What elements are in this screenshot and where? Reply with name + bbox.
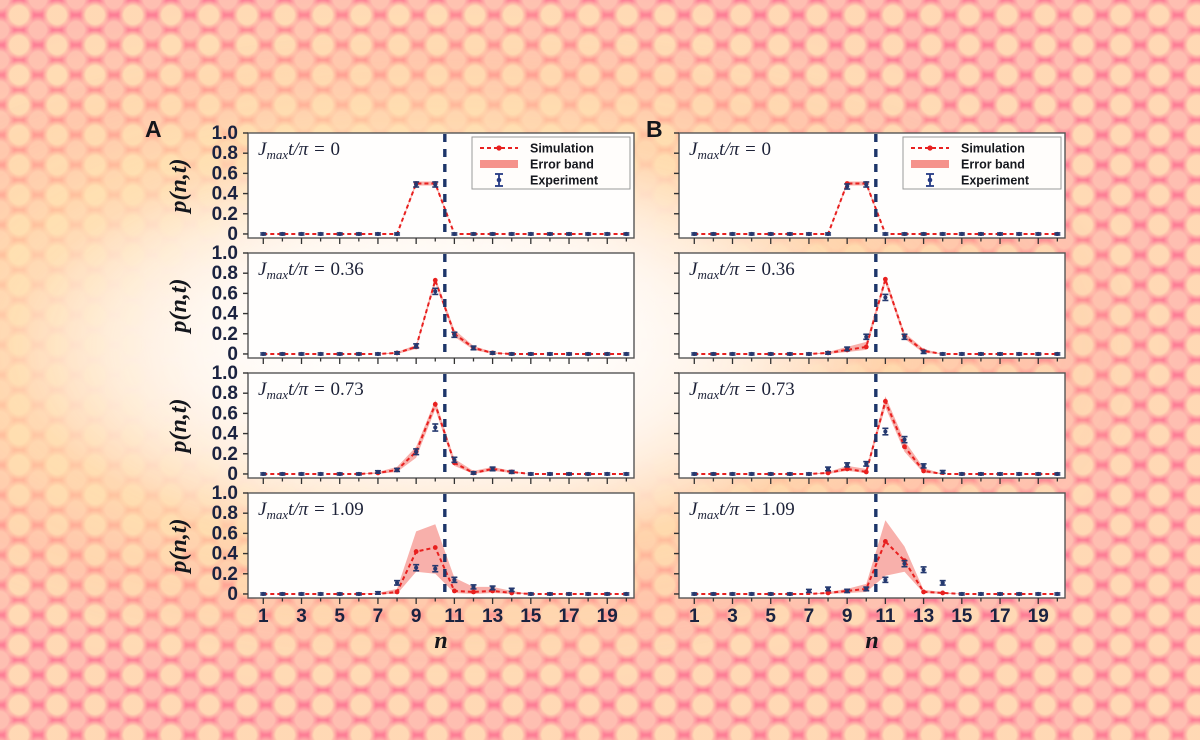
experiment-errorbar xyxy=(604,472,610,476)
y-tick-label: 0.4 xyxy=(212,304,239,325)
experiment-errorbar xyxy=(863,587,869,591)
y-tick-label: 0.2 xyxy=(212,324,238,345)
experiment-errorbar xyxy=(959,232,965,236)
y-axis-label: p(n,t) xyxy=(166,519,192,575)
subplot-b1: Jmaxt/π = 0SimulationError bandExperimen… xyxy=(674,133,1065,244)
y-tick-label: 0.8 xyxy=(212,383,238,404)
y-tick-label: 0.2 xyxy=(212,564,238,585)
experiment-errorbar xyxy=(997,592,1003,596)
x-tick-label: 15 xyxy=(951,606,973,627)
experiment-errorbar xyxy=(978,592,984,596)
simulation-point xyxy=(883,277,888,282)
experiment-errorbar xyxy=(623,232,629,236)
experiment-errorbar xyxy=(1016,352,1022,356)
experiment-errorbar xyxy=(691,352,697,356)
simulation-point xyxy=(864,470,869,475)
experiment-errorbar xyxy=(604,232,610,236)
subplot-a3: 1.00.80.60.40.20p(n,t)Jmaxt/π = 0.73 xyxy=(166,363,634,485)
x-tick-label: 19 xyxy=(597,606,618,627)
experiment-errorbar xyxy=(547,232,553,236)
experiment-errorbar xyxy=(997,232,1003,236)
legend-label: Experiment xyxy=(961,174,1030,188)
y-tick-label: 1.0 xyxy=(212,483,238,504)
experiment-errorbar xyxy=(901,232,907,236)
experiment-errorbar xyxy=(710,232,716,236)
legend-label: Experiment xyxy=(530,174,599,188)
x-tick-label: 7 xyxy=(804,606,815,627)
experiment-errorbar xyxy=(749,232,755,236)
experiment-errorbar xyxy=(863,334,869,339)
y-tick-label: 0 xyxy=(227,584,238,605)
experiment-errorbar xyxy=(863,182,869,187)
y-tick-label: 0.4 xyxy=(212,424,239,445)
experiment-errorbar xyxy=(806,232,812,236)
experiment-errorbar xyxy=(585,592,591,596)
experiment-errorbar xyxy=(844,463,850,467)
experiment-errorbar xyxy=(825,587,831,591)
subplot-a1: 1.00.80.60.40.20p(n,t)Jmaxt/π = 0Simulat… xyxy=(166,123,634,245)
experiment-errorbar xyxy=(691,592,697,596)
y-tick-label: 0.2 xyxy=(212,204,238,225)
x-tick-label: 13 xyxy=(482,606,503,627)
y-tick-label: 0.4 xyxy=(212,544,239,565)
x-tick-label: 15 xyxy=(520,606,542,627)
y-tick-label: 0.6 xyxy=(212,523,238,544)
experiment-errorbar xyxy=(1016,472,1022,476)
experiment-errorbar xyxy=(585,472,591,476)
subplot-b4: 135791113151719nJmaxt/π = 1.09 xyxy=(674,493,1065,654)
experiment-errorbar xyxy=(1016,232,1022,236)
experiment-errorbar xyxy=(997,472,1003,476)
y-axis-label: p(n,t) xyxy=(166,279,192,335)
subplot-b2: Jmaxt/π = 0.36 xyxy=(674,253,1065,364)
experiment-errorbar xyxy=(566,352,572,356)
x-tick-label: 5 xyxy=(765,606,776,627)
experiment-errorbar xyxy=(901,334,907,339)
experiment-errorbar xyxy=(940,470,946,474)
experiment-errorbar xyxy=(730,352,736,356)
panel-label-a: A xyxy=(145,116,162,143)
experiment-errorbar xyxy=(623,472,629,476)
experiment-errorbar xyxy=(730,592,736,596)
x-tick-label: 9 xyxy=(842,606,853,627)
experiment-errorbar xyxy=(1035,232,1041,236)
experiment-errorbar xyxy=(1054,592,1060,596)
experiment-errorbar xyxy=(604,592,610,596)
plot-area: 1.00.80.60.40.20p(n,t)Jmaxt/π = 0Simulat… xyxy=(0,0,1200,740)
experiment-errorbar xyxy=(585,232,591,236)
simulation-point xyxy=(940,591,945,596)
experiment-errorbar xyxy=(710,472,716,476)
simulation-point xyxy=(921,469,926,474)
x-tick-label: 1 xyxy=(258,606,269,627)
experiment-errorbar xyxy=(710,592,716,596)
y-tick-label: 0.6 xyxy=(212,403,238,424)
experiment-errorbar xyxy=(825,232,831,236)
experiment-errorbar xyxy=(940,581,946,585)
experiment-errorbar xyxy=(1054,472,1060,476)
experiment-errorbar xyxy=(768,472,774,476)
experiment-errorbar xyxy=(844,184,850,189)
legend-errorband-icon xyxy=(911,160,949,168)
y-tick-label: 0.6 xyxy=(212,163,238,184)
experiment-errorbar xyxy=(1054,232,1060,236)
y-tick-label: 0.6 xyxy=(212,283,238,304)
experiment-errorbar xyxy=(806,589,812,593)
simulation-point xyxy=(433,545,438,550)
y-tick-label: 0.8 xyxy=(212,143,238,164)
experiment-errorbar xyxy=(623,352,629,356)
experiment-errorbar xyxy=(528,352,534,356)
experiment-errorbar xyxy=(585,352,591,356)
experiment-errorbar xyxy=(844,589,850,593)
legend-label: Simulation xyxy=(961,142,1025,156)
x-tick-label: 3 xyxy=(727,606,738,627)
figure-container: A B 1.00.80.60.40.20p(n,t)Jmaxt/π = 0Sim… xyxy=(0,0,1200,740)
x-tick-label: 1 xyxy=(689,606,700,627)
legend-simulation-dot xyxy=(927,145,932,150)
simulation-point xyxy=(864,344,869,349)
simulation-point xyxy=(883,539,888,544)
experiment-errorbar xyxy=(787,232,793,236)
x-tick-label: 3 xyxy=(296,606,307,627)
experiment-errorbar xyxy=(882,577,888,582)
experiment-errorbar xyxy=(959,352,965,356)
x-tick-label: 13 xyxy=(913,606,934,627)
experiment-errorbar xyxy=(1035,352,1041,356)
simulation-point xyxy=(395,590,400,595)
legend-label: Error band xyxy=(530,158,594,172)
experiment-errorbar xyxy=(959,472,965,476)
simulation-point xyxy=(921,590,926,595)
experiment-errorbar xyxy=(1054,352,1060,356)
experiment-errorbar xyxy=(604,352,610,356)
experiment-errorbar xyxy=(710,352,716,356)
experiment-errorbar xyxy=(528,592,534,596)
simulation-point xyxy=(902,444,907,449)
simulation-point xyxy=(883,399,888,404)
experiment-errorbar xyxy=(691,232,697,236)
x-tick-label: 11 xyxy=(875,606,896,627)
x-tick-label: 9 xyxy=(411,606,422,627)
experiment-errorbar xyxy=(844,347,850,351)
experiment-errorbar xyxy=(749,472,755,476)
experiment-errorbar xyxy=(882,232,888,236)
experiment-errorbar xyxy=(623,592,629,596)
x-axis-label: n xyxy=(865,628,878,654)
simulation-point xyxy=(452,589,457,594)
experiment-errorbar xyxy=(768,352,774,356)
experiment-errorbar xyxy=(787,472,793,476)
experiment-errorbar xyxy=(691,472,697,476)
x-tick-label: 5 xyxy=(334,606,345,627)
experiment-errorbar xyxy=(959,592,965,596)
experiment-errorbar xyxy=(528,472,534,476)
experiment-errorbar xyxy=(806,472,812,476)
experiment-errorbar xyxy=(547,592,553,596)
experiment-errorbar xyxy=(1016,592,1022,596)
experiment-errorbar xyxy=(768,592,774,596)
x-tick-label: 17 xyxy=(558,606,579,627)
experiment-errorbar xyxy=(1035,472,1041,476)
legend-label: Simulation xyxy=(530,142,594,156)
y-tick-label: 0.4 xyxy=(212,184,239,205)
simulation-point xyxy=(414,549,419,554)
y-tick-label: 0 xyxy=(227,224,238,245)
legend-simulation-dot xyxy=(496,145,501,150)
y-tick-label: 1.0 xyxy=(212,123,238,144)
experiment-errorbar xyxy=(547,352,553,356)
y-tick-label: 1.0 xyxy=(212,363,238,384)
experiment-errorbar xyxy=(730,232,736,236)
experiment-errorbar xyxy=(997,352,1003,356)
legend-label: Error band xyxy=(961,158,1025,172)
experiment-errorbar xyxy=(749,352,755,356)
experiment-errorbar xyxy=(566,232,572,236)
y-axis-label: p(n,t) xyxy=(166,159,192,215)
experiment-errorbar xyxy=(978,352,984,356)
experiment-errorbar xyxy=(863,462,869,466)
simulation-point xyxy=(471,590,476,595)
experiment-errorbar xyxy=(825,351,831,355)
x-tick-label: 11 xyxy=(444,606,465,627)
simulation-point xyxy=(433,402,438,407)
experiment-errorbar xyxy=(940,352,946,356)
experiment-errorbar xyxy=(787,352,793,356)
experiment-errorbar xyxy=(749,592,755,596)
experiment-errorbar xyxy=(566,592,572,596)
experiment-errorbar xyxy=(921,350,927,354)
subplot-a4: 1.00.80.60.40.20135791113151719np(n,t)Jm… xyxy=(166,483,634,654)
experiment-errorbar xyxy=(978,472,984,476)
experiment-errorbar xyxy=(1035,592,1041,596)
y-tick-label: 1.0 xyxy=(212,243,238,264)
legend-errorband-icon xyxy=(480,160,518,168)
experiment-errorbar xyxy=(768,232,774,236)
experiment-errorbar xyxy=(940,232,946,236)
legend: SimulationError bandExperiment xyxy=(903,137,1061,189)
experiment-errorbar xyxy=(547,472,553,476)
experiment-errorbar xyxy=(566,472,572,476)
experiment-errorbar xyxy=(978,232,984,236)
x-axis-label: n xyxy=(434,628,447,654)
y-tick-label: 0.8 xyxy=(212,263,238,284)
y-tick-label: 0.8 xyxy=(212,503,238,524)
legend: SimulationError bandExperiment xyxy=(472,137,630,189)
subplot-a2: 1.00.80.60.40.20p(n,t)Jmaxt/π = 0.36 xyxy=(166,243,634,365)
y-tick-label: 0.2 xyxy=(212,444,238,465)
y-tick-label: 0 xyxy=(227,344,238,365)
experiment-errorbar xyxy=(921,232,927,236)
x-tick-label: 19 xyxy=(1028,606,1049,627)
experiment-errorbar xyxy=(825,467,831,471)
experiment-errorbar xyxy=(806,352,812,356)
y-tick-label: 0 xyxy=(227,464,238,485)
experiment-errorbar xyxy=(528,232,534,236)
experiment-errorbar xyxy=(730,472,736,476)
x-tick-label: 17 xyxy=(989,606,1010,627)
experiment-errorbar xyxy=(787,592,793,596)
panel-label-b: B xyxy=(646,116,663,143)
subplot-b3: Jmaxt/π = 0.73 xyxy=(674,373,1065,484)
experiment-errorbar xyxy=(921,464,927,468)
y-axis-label: p(n,t) xyxy=(166,399,192,455)
x-tick-label: 7 xyxy=(373,606,384,627)
simulation-point xyxy=(433,278,438,283)
